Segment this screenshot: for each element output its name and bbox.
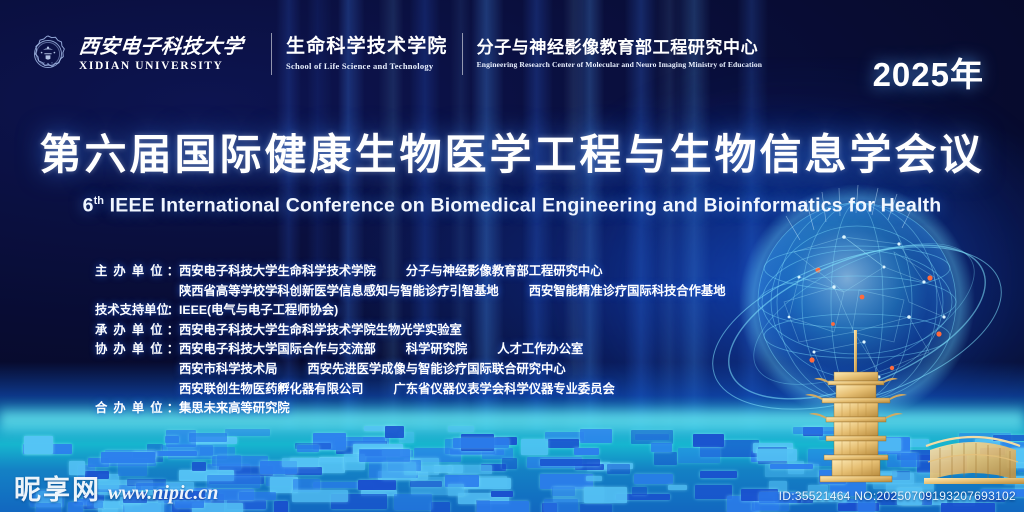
organizer-row: 合办单位集思未来高等研究院 — [95, 399, 726, 419]
city-block — [634, 474, 673, 484]
city-block — [358, 480, 395, 490]
city-block — [156, 451, 197, 456]
organizer-row: 协办单位西安联创生物医药孵化器有限公司广东省仪器仪表学会科学仪器专业委员会 — [95, 380, 726, 400]
image-id-text: ID:35521464 NO:20250709193207693102 — [779, 489, 1016, 503]
organizer-name: 陕西省高等学校学科创新医学信息感知与智能诊疗引智基地 — [179, 282, 499, 302]
city-block — [385, 426, 403, 437]
watermark-name-cn: 昵享网 — [14, 477, 101, 504]
city-block — [580, 429, 612, 443]
organizer-name: 人才工作办公室 — [497, 340, 583, 360]
city-block — [502, 458, 517, 468]
city-block — [217, 455, 241, 470]
conference-ordinal: 6 — [83, 195, 94, 217]
organizer-row: 主办单位西安电子科技大学生命科学技术学院分子与神经影像教育部工程研究中心 — [95, 262, 726, 282]
city-block — [225, 429, 270, 436]
research-center-name: 分子与神经影像教育部工程研究中心 Engineering Research Ce… — [477, 39, 762, 70]
city-block — [431, 502, 450, 512]
school-name-en: School of Life Science and Technology — [286, 61, 448, 71]
watermark-url: www.nipic.cn — [108, 483, 218, 504]
organizer-values: 西安联创生物医药孵化器有限公司广东省仪器仪表学会科学仪器专业委员会 — [179, 380, 615, 400]
city-block — [552, 487, 575, 495]
site-watermark: 昵享网 www.nipic.cn — [14, 477, 218, 504]
organizer-name: 西安电子科技大学国际合作与交流部 — [179, 340, 376, 360]
conference-banner: 西安电子科技大学 XIDIAN UNIVERSITY 生命科学技术学院 Scho… — [0, 0, 1024, 512]
conference-title-en-text: IEEE International Conference on Biomedi… — [110, 195, 942, 217]
organizer-name: 西安电子科技大学生命科学技术学院生物光学实验室 — [179, 321, 462, 341]
organizer-name: 西安市科学技术局 — [179, 360, 277, 380]
city-block — [410, 481, 442, 487]
header-divider-2 — [462, 33, 463, 75]
city-block — [584, 487, 627, 503]
city-block — [274, 501, 288, 512]
city-block — [394, 494, 432, 509]
organizer-values: 西安电子科技大学国际合作与交流部科学研究院人才工作办公室 — [179, 340, 583, 360]
city-block — [654, 452, 677, 465]
organizer-values: 集思未来高等研究院 — [179, 399, 290, 419]
city-block — [282, 458, 318, 466]
research-center-name-cn: 分子与神经影像教育部工程研究中心 — [477, 39, 762, 58]
organizer-label: 合办单位 — [95, 399, 179, 419]
organizer-label: 技术支持单位 — [95, 301, 179, 321]
organizer-row: 协办单位西安电子科技大学国际合作与交流部科学研究院人才工作办公室 — [95, 340, 726, 360]
organizer-row: 主办单位陕西省高等学校学科创新医学信息感知与智能诊疗引智基地西安智能精准诊疗国际… — [95, 282, 726, 302]
city-block — [165, 436, 180, 443]
city-block — [607, 464, 630, 473]
city-block — [651, 443, 672, 452]
organizer-label: 承办单位 — [95, 321, 179, 341]
city-block — [448, 426, 474, 431]
organizer-name: 科学研究院 — [406, 340, 468, 360]
city-block — [189, 433, 227, 443]
city-block — [24, 436, 53, 454]
university-name-cn: 西安电子科技大学 — [78, 37, 244, 58]
city-block — [668, 485, 687, 490]
city-block — [586, 476, 602, 481]
organizer-name: 西安先进医学成像与智能诊疗国际联合研究中心 — [307, 360, 565, 380]
university-name: 西安电子科技大学 XIDIAN UNIVERSITY — [79, 37, 257, 72]
city-block — [359, 449, 409, 461]
organizer-name: IEEE(电气与电子工程师协会) — [179, 301, 338, 321]
organizer-name: 西安智能精准诊疗国际科技合作基地 — [529, 282, 726, 302]
organizer-name: 西安电子科技大学生命科学技术学院 — [179, 262, 376, 282]
city-block — [548, 439, 579, 448]
organizer-values: IEEE(电气与电子工程师协会) — [179, 301, 338, 321]
research-center-name-en: Engineering Research Center of Molecular… — [477, 60, 762, 69]
city-block — [101, 452, 154, 463]
city-block — [580, 504, 613, 512]
organizer-values: 陕西省高等学校学科创新医学信息感知与智能诊疗引智基地西安智能精准诊疗国际科技合作… — [179, 282, 726, 302]
network-globe-artwork — [694, 182, 1024, 512]
city-block — [239, 492, 276, 500]
banner-header: 西安电子科技大学 XIDIAN UNIVERSITY 生命科学技术学院 Scho… — [0, 0, 1024, 108]
organizer-label: 协办单位 — [95, 340, 179, 360]
city-block — [292, 490, 348, 501]
school-name-cn: 生命科学技术学院 — [286, 37, 448, 58]
organizer-list: 主办单位西安电子科技大学生命科学技术学院分子与神经影像教育部工程研究中心主办单位… — [95, 262, 726, 419]
city-block — [540, 459, 599, 466]
university-name-en: XIDIAN UNIVERSITY — [79, 60, 243, 72]
organizer-name: 西安联创生物医药孵化器有限公司 — [179, 380, 363, 400]
city-block — [574, 448, 599, 455]
city-block — [631, 430, 673, 444]
city-block — [192, 462, 206, 472]
organizer-row: 协办单位西安市科学技术局西安先进医学成像与智能诊疗国际联合研究中心 — [95, 360, 726, 380]
conference-title-en: 6th IEEE International Conference on Bio… — [0, 196, 1024, 216]
organizer-values: 西安市科学技术局西安先进医学成像与智能诊疗国际联合研究中心 — [179, 360, 566, 380]
city-block — [382, 462, 416, 479]
organizer-label: 主办单位 — [95, 262, 179, 282]
organizer-row: 承办单位西安电子科技大学生命科学技术学院生物光学实验室 — [95, 321, 726, 341]
xidian-university-seal-icon — [28, 34, 68, 74]
city-block — [453, 438, 509, 449]
conference-title-cn: 第六届国际健康生物医学工程与生物信息学会议 — [0, 134, 1024, 176]
city-block — [632, 487, 648, 495]
conference-year: 2025年 — [873, 48, 984, 96]
city-block — [297, 445, 319, 453]
school-name: 生命科学技术学院 School of Life Science and Tech… — [286, 37, 448, 71]
header-divider-1 — [271, 33, 272, 75]
organizer-name: 广东省仪器仪表学会科学仪器专业委员会 — [393, 380, 614, 400]
city-block — [477, 501, 529, 512]
organizer-name: 集思未来高等研究院 — [179, 399, 290, 419]
city-block — [448, 465, 492, 474]
city-block — [491, 491, 513, 497]
city-block — [69, 461, 86, 475]
city-block — [544, 499, 578, 512]
organizer-values: 西安电子科技大学生命科学技术学院生物光学实验室 — [179, 321, 462, 341]
organizer-name: 分子与神经影像教育部工程研究中心 — [406, 262, 603, 282]
organizer-values: 西安电子科技大学生命科学技术学院分子与神经影像教育部工程研究中心 — [179, 262, 603, 282]
city-block — [521, 439, 548, 455]
organizer-row: 技术支持单位IEEE(电气与电子工程师协会) — [95, 301, 726, 321]
conference-ordinal-suffix: th — [94, 195, 104, 207]
city-block — [448, 484, 465, 496]
